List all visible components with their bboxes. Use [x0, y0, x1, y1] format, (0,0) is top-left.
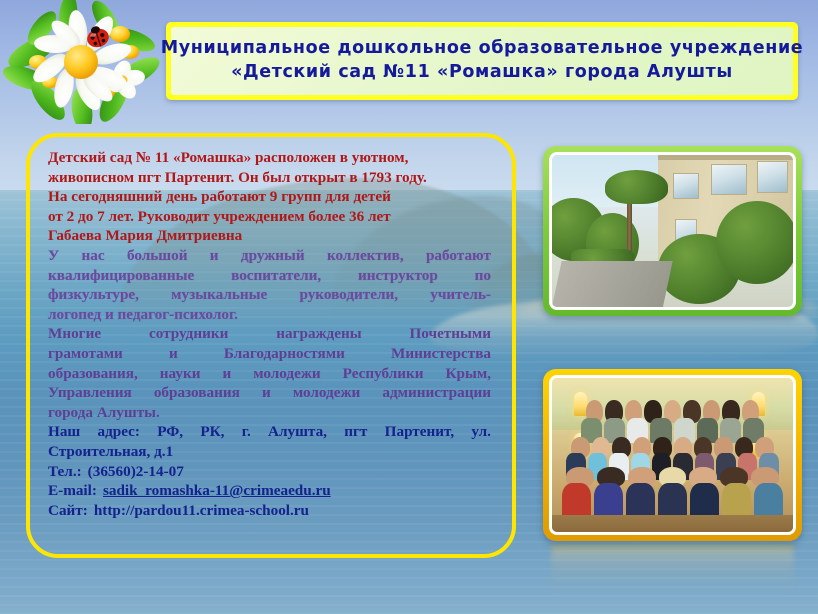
building-window — [757, 161, 788, 193]
w: пгт — [344, 422, 367, 442]
title-line-1: Муниципальное дошкольное образовательное… — [161, 38, 804, 60]
w: физкультуре, — [48, 285, 139, 305]
paragraph-awards: Многие сотрудники награждены Почетными г… — [48, 324, 491, 422]
kindergarten-building-photo — [543, 146, 802, 316]
w: и — [222, 364, 231, 384]
w: сотрудники — [149, 324, 228, 344]
w: Крым, — [446, 364, 491, 384]
w: награждены — [276, 324, 361, 344]
w: дружный — [241, 246, 305, 266]
paragraph-staff: У нас большой и дружный коллектив, работ… — [48, 246, 491, 324]
w: музыкальные — [171, 285, 267, 305]
w: Партенит, — [385, 422, 454, 442]
w: нас — [82, 246, 105, 266]
w: образования — [154, 383, 240, 403]
w: Строительная, д.1 — [48, 442, 173, 462]
title-banner: Муниципальное дошкольное образовательное… — [166, 22, 798, 100]
w: Алушта, — [268, 422, 327, 442]
w: Многие — [48, 324, 101, 344]
w: У — [48, 246, 59, 266]
palm-crown — [605, 170, 668, 203]
building-window — [673, 173, 700, 199]
slide-root: Муниципальное дошкольное образовательное… — [0, 0, 818, 614]
w: адрес: — [98, 422, 140, 442]
w: науки — [160, 364, 201, 384]
title-banner-inner: Муниципальное дошкольное образовательное… — [171, 27, 793, 95]
awards-line-3: образования, науки и молодежи Республики… — [48, 364, 491, 384]
w: Наш — [48, 422, 80, 442]
paragraph-intro: Детский сад № 11 «Ромашка» расположен в … — [48, 148, 491, 246]
site-label: Сайт: — [48, 501, 88, 521]
shrub — [716, 201, 793, 285]
w: РФ, — [157, 422, 183, 442]
intro-line-3: На сегодняшний день работают 9 групп для… — [48, 187, 491, 207]
w: Почетными — [409, 324, 490, 344]
email-line: E-mail: sadik_romashka-11@crimeaedu.ru — [48, 481, 491, 501]
w: Республики — [343, 364, 424, 384]
address-line-2: Строительная, д.1 — [48, 442, 491, 462]
photo-mat — [549, 375, 796, 535]
awards-line-5: города Алушты. — [48, 403, 491, 423]
daisy-core — [64, 45, 98, 79]
w: руководители, — [299, 285, 398, 305]
site-link[interactable]: http://pardou11.crimea-school.ru — [94, 501, 309, 521]
staff-line-3: физкультуре, музыкальные руководители, у… — [48, 285, 491, 305]
w: молодежи — [253, 364, 320, 384]
paragraph-contacts: Наш адрес: РФ, РК, г. Алушта, пгт Партен… — [48, 422, 491, 520]
w: Благодарностями — [224, 344, 345, 364]
w: молодежи — [293, 383, 360, 403]
photo-scene-building — [552, 155, 793, 307]
w: воспитатели, — [231, 266, 321, 286]
w: Управления — [48, 383, 132, 403]
w: города Алушты. — [48, 403, 160, 423]
site-line: Сайт: http://pardou11.crimea-school.ru — [48, 501, 491, 521]
intro-line-4: от 2 до 7 лет. Руководит учреждением бол… — [48, 207, 491, 227]
w: большой — [127, 246, 188, 266]
w: и — [262, 383, 271, 403]
photo-scene-staff — [552, 378, 793, 532]
email-label: E-mail: — [48, 481, 97, 501]
w: ул. — [471, 422, 491, 442]
walkway — [552, 261, 673, 307]
phone-value: (36560)2-14-07 — [88, 462, 184, 482]
w: работают — [426, 246, 491, 266]
awards-line-4: Управления образования и молодежи админи… — [48, 383, 491, 403]
phone-line: Тел.: (36560)2-14-07 — [48, 462, 491, 482]
w: учитель- — [430, 285, 491, 305]
w: Министерства — [391, 344, 491, 364]
w: по — [475, 266, 491, 286]
title-line-2: «Детский сад №11 «Ромашка» города Алушты — [231, 62, 733, 84]
intro-line-5: Габаева Мария Дмитриевна — [48, 226, 491, 246]
photo-mat — [549, 152, 796, 310]
hall-floor — [552, 515, 793, 532]
building-roofline — [658, 155, 793, 160]
phone-label: Тел.: — [48, 462, 82, 482]
w: квалифицированные — [48, 266, 194, 286]
building-window — [711, 164, 747, 194]
w: образования, — [48, 364, 138, 384]
awards-line-2: грамотами и Благодарностями Министерства — [48, 344, 491, 364]
email-link[interactable]: sadik_romashka-11@crimeaedu.ru — [103, 481, 331, 501]
intro-line-1: Детский сад № 11 «Ромашка» расположен в … — [48, 148, 491, 168]
staff-group-photo — [543, 369, 802, 541]
staff-line-2: квалифицированные воспитатели, инструкто… — [48, 266, 491, 286]
daisy-chamomile-flower-icon — [2, 0, 170, 124]
w: коллектив, — [327, 246, 404, 266]
staff-line-1: У нас большой и дружный коллектив, работ… — [48, 246, 491, 266]
w: грамотами — [48, 344, 123, 364]
awards-line-1: Многие сотрудники награждены Почетными — [48, 324, 491, 344]
w: и — [169, 344, 178, 364]
w: администрации — [382, 383, 491, 403]
w: инструктор — [358, 266, 438, 286]
w: г. — [242, 422, 251, 442]
content-text-body: Детский сад № 11 «Ромашка» расположен в … — [46, 146, 501, 551]
w: РК, — [200, 422, 224, 442]
intro-line-2: живописном пгт Партенит. Он был открыт в… — [48, 168, 491, 188]
w: и — [210, 246, 219, 266]
staff-line-4: логопед и педагог-психолог. — [48, 305, 491, 325]
address-line-1: Наш адрес: РФ, РК, г. Алушта, пгт Партен… — [48, 422, 491, 442]
w: логопед и педагог-психолог. — [48, 305, 238, 325]
photo-reflection — [551, 549, 794, 589]
